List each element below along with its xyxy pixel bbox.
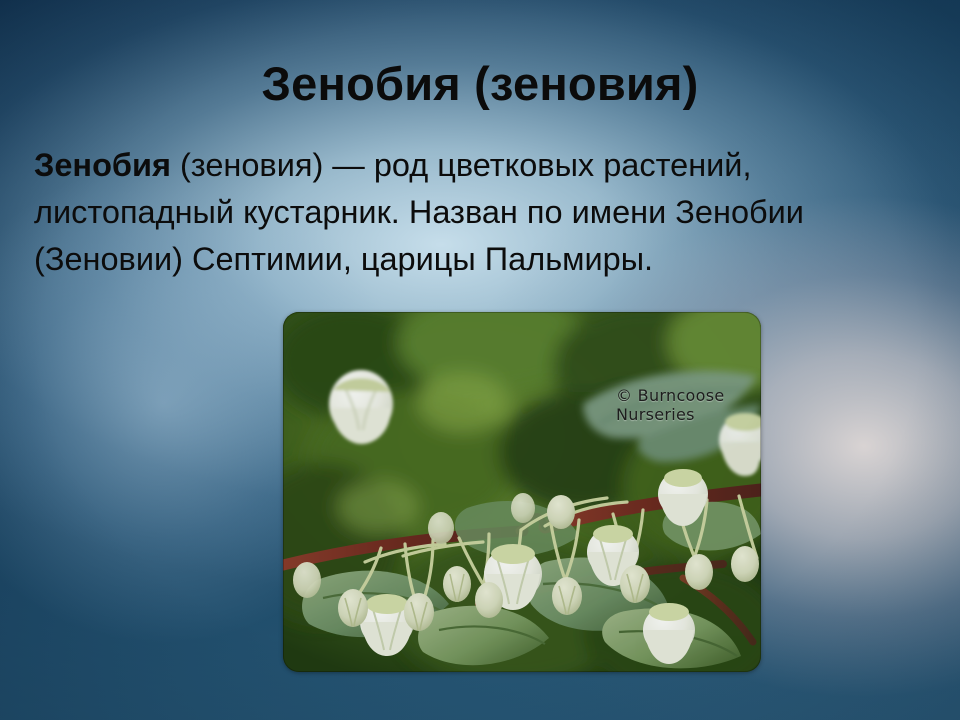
slide: Зенобия (зеновия) Зенобия (зеновия) — ро…: [0, 0, 960, 720]
flower-photograph-artwork: [283, 312, 761, 672]
slide-title: Зенобия (зеновия): [0, 58, 960, 111]
body-lead-term: Зенобия: [34, 147, 171, 183]
slide-body-text: Зенобия (зеновия) — род цветковых растен…: [34, 142, 914, 283]
flower-photograph: © Burncoose Nurseries: [283, 312, 761, 672]
